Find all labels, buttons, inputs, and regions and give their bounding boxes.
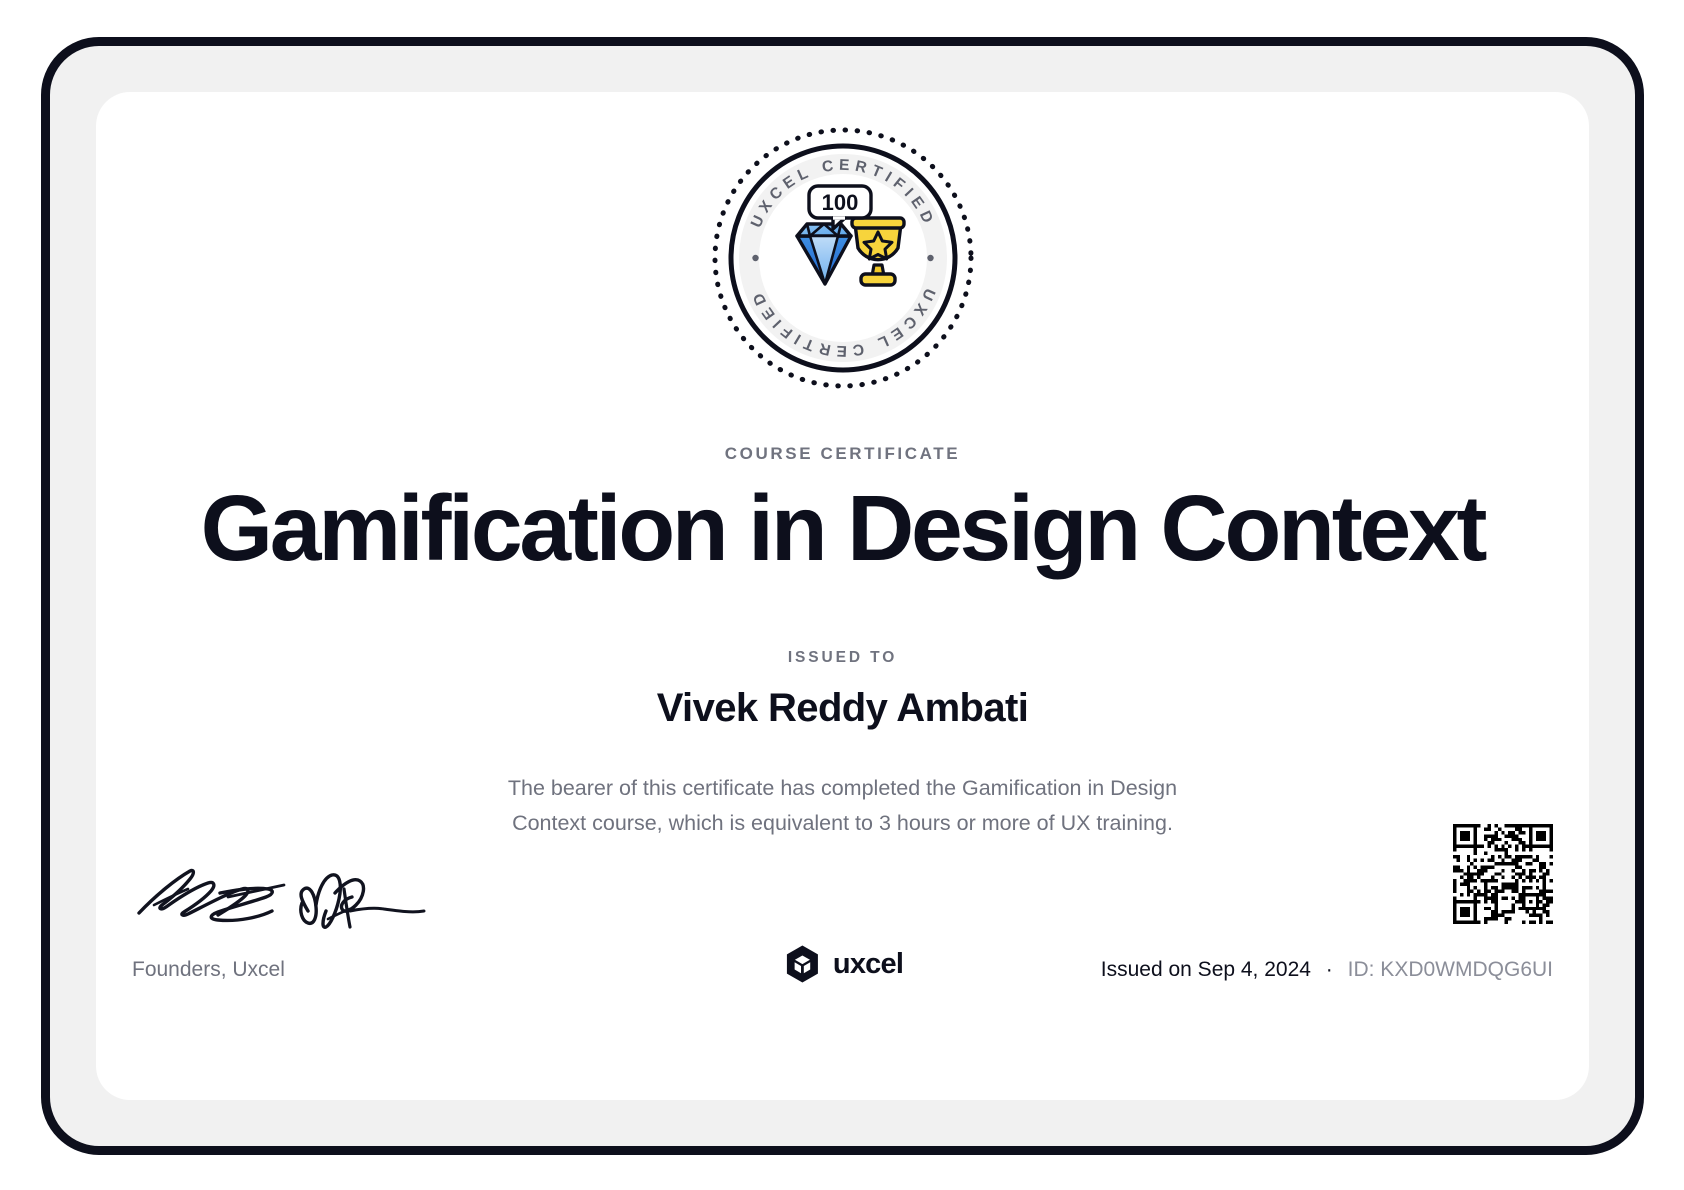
course-certificate-label: COURSE CERTIFICATE bbox=[96, 444, 1589, 464]
uxcel-wordmark: uxcel bbox=[833, 948, 903, 981]
meta-separator: · bbox=[1317, 958, 1342, 981]
certificate-frame: UXCEL CERTIFIED UXCEL CERTIFIED bbox=[41, 37, 1644, 1155]
uxcel-logo: uxcel bbox=[782, 944, 903, 984]
score-bubble-value: 100 bbox=[821, 190, 858, 215]
certificate-id: ID: KXD0WMDQG6UI bbox=[1348, 958, 1553, 981]
certificate-title: Gamification in Design Context bbox=[96, 480, 1589, 578]
verification-qr-code[interactable] bbox=[1453, 824, 1553, 924]
uxcel-hexagon-icon bbox=[782, 944, 822, 984]
certified-seal: UXCEL CERTIFIED UXCEL CERTIFIED bbox=[709, 124, 977, 392]
issued-to-label: ISSUED TO bbox=[96, 649, 1589, 667]
recipient-name: Vivek Reddy Ambati bbox=[96, 686, 1589, 731]
signature-one bbox=[139, 870, 284, 920]
seal-ring-bullet-right bbox=[927, 255, 933, 261]
description-line-1: The bearer of this certificate has compl… bbox=[473, 771, 1213, 806]
description-line-2: Context course, which is equivalent to 3… bbox=[473, 806, 1213, 841]
certificate-description: The bearer of this certificate has compl… bbox=[473, 771, 1213, 841]
certificate-card: UXCEL CERTIFIED UXCEL CERTIFIED bbox=[96, 92, 1589, 1100]
issue-metadata: Issued on Sep 4, 2024 · ID: KXD0WMDQG6UI bbox=[1101, 958, 1553, 982]
seal-ring-bullet-left bbox=[752, 255, 758, 261]
signature-two bbox=[301, 875, 424, 928]
founder-signatures bbox=[132, 849, 432, 935]
issued-on-date: Issued on Sep 4, 2024 bbox=[1101, 958, 1311, 981]
founders-label: Founders, Uxcel bbox=[132, 958, 285, 982]
